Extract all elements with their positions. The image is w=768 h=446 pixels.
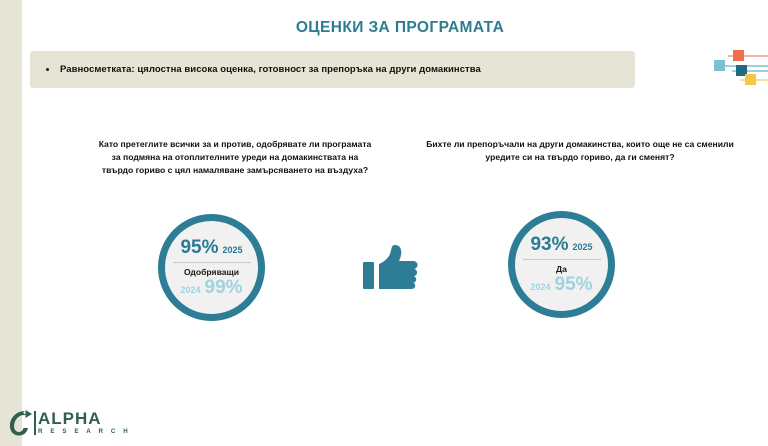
stat-value-2025-left: 95% (180, 238, 218, 257)
stat-year-2025-left: 2025 (223, 246, 243, 255)
alpha-research-logo: ALPHA R E S E A R C H (4, 408, 132, 444)
stat-row-previous-right: 2024 95% (530, 275, 592, 294)
thumbs-up-icon (361, 244, 419, 299)
decorative-squares-graphic (714, 48, 768, 92)
stat-donut-recommendation: 93% 2025 Да 2024 95% (508, 211, 615, 318)
stat-year-2025-right: 2025 (573, 243, 593, 252)
logo-research-text: R E S E A R C H (38, 428, 131, 436)
stat-year-2024-left: 2024 (180, 286, 200, 295)
deco-square-lightblue (714, 60, 725, 71)
stat-value-2024-left: 99% (205, 278, 243, 297)
alpha-mark-icon (4, 408, 36, 440)
stat-row-current-right: 93% 2025 (530, 235, 592, 254)
logo-divider (34, 411, 36, 435)
deco-square-orange (733, 50, 744, 61)
stat-value-2024-right: 95% (555, 275, 593, 294)
stat-row-previous-left: 2024 99% (180, 278, 242, 297)
stat-row-current-left: 95% 2025 (180, 238, 242, 257)
slide-root: ОЦЕНКИ ЗА ПРОГРАМАТА Равносметката: цяло… (0, 0, 768, 446)
question-text-left: Като претеглите всички за и против, одоб… (95, 138, 375, 178)
question-text-right: Бихте ли препоръчали на други домакинств… (425, 138, 735, 164)
bullet-text: Равносметката: цялостна висока оценка, г… (60, 64, 481, 75)
logo-alpha-text: ALPHA (38, 410, 131, 428)
left-accent-stripe (0, 0, 22, 446)
page-title: ОЦЕНКИ ЗА ПРОГРАМАТА (120, 19, 680, 37)
stat-year-2024-right: 2024 (530, 283, 550, 292)
bullet-banner: Равносметката: цялостна висока оценка, г… (30, 51, 635, 88)
stat-label-left: Одобряващи (173, 262, 251, 277)
bullet-dot-icon (46, 68, 49, 71)
stat-value-2025-right: 93% (530, 235, 568, 254)
logo-wordmark: ALPHA R E S E A R C H (38, 410, 131, 436)
stat-donut-approval: 95% 2025 Одобряващи 2024 99% (158, 214, 265, 321)
deco-square-yellow (745, 74, 756, 85)
stat-label-right: Да (523, 259, 601, 274)
